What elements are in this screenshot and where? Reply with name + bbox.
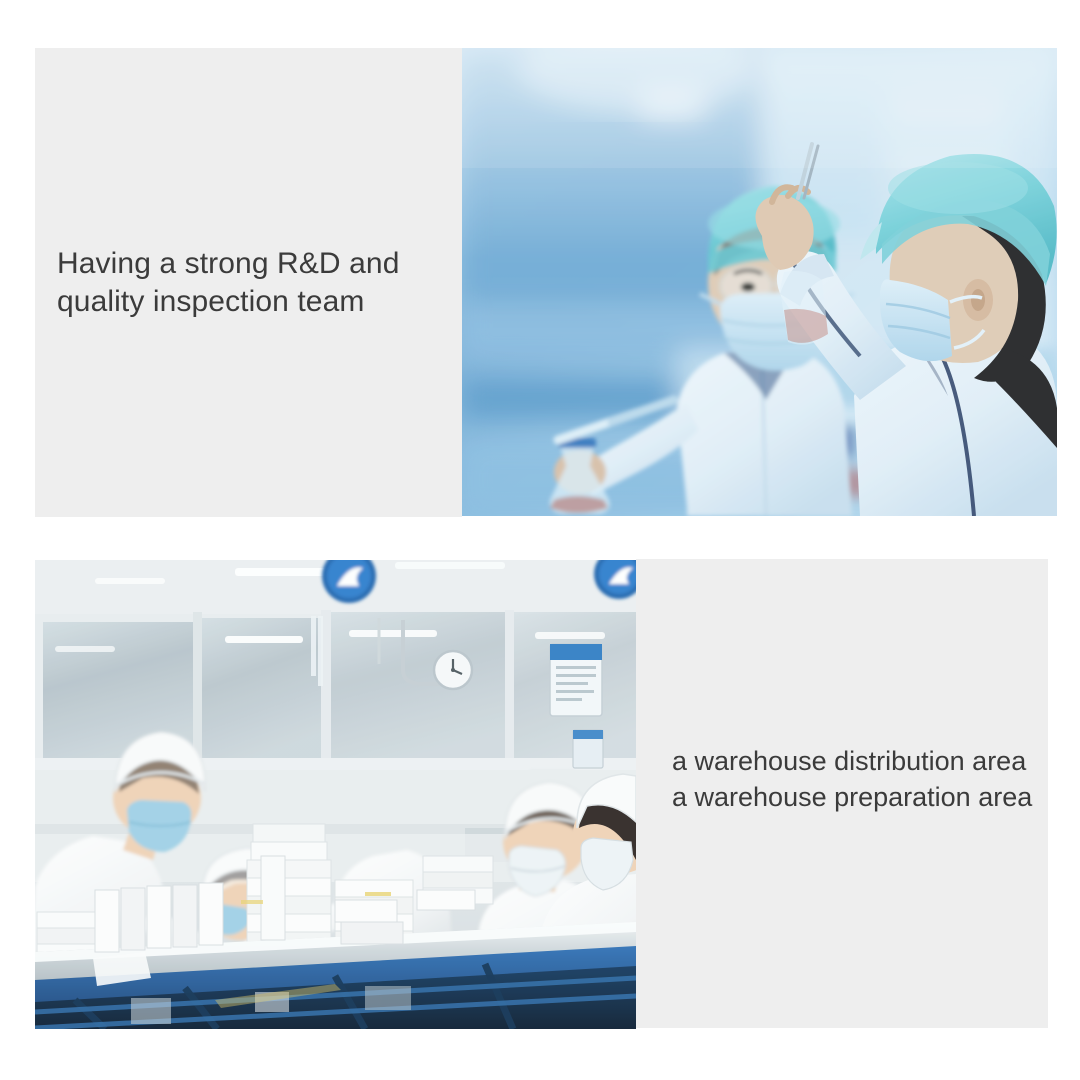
bottom-caption-panel: a warehouse distribution area a warehous… xyxy=(636,559,1048,1028)
poster-canvas: Having a strong R&D and quality inspecti… xyxy=(0,0,1080,1080)
bottom-caption-line-1: a warehouse distribution area xyxy=(672,744,1072,780)
top-caption-line-2: quality inspection team xyxy=(57,283,457,321)
top-caption-line-1: Having a strong R&D and xyxy=(57,245,457,283)
warehouse-packing-photo xyxy=(35,560,636,1029)
top-caption-panel: Having a strong R&D and quality inspecti… xyxy=(35,48,462,517)
lab-inspection-illustration xyxy=(462,48,1057,516)
bottom-caption-text: a warehouse distribution area a warehous… xyxy=(672,744,1072,815)
lab-inspection-photo xyxy=(462,48,1057,516)
section-warehouse-areas: a warehouse distribution area a warehous… xyxy=(35,559,1048,1029)
warehouse-packing-illustration xyxy=(35,560,636,1029)
bottom-caption-line-2: a warehouse preparation area xyxy=(672,780,1072,816)
top-caption-text: Having a strong R&D and quality inspecti… xyxy=(57,245,457,322)
section-rnd-quality: Having a strong R&D and quality inspecti… xyxy=(35,48,1057,517)
